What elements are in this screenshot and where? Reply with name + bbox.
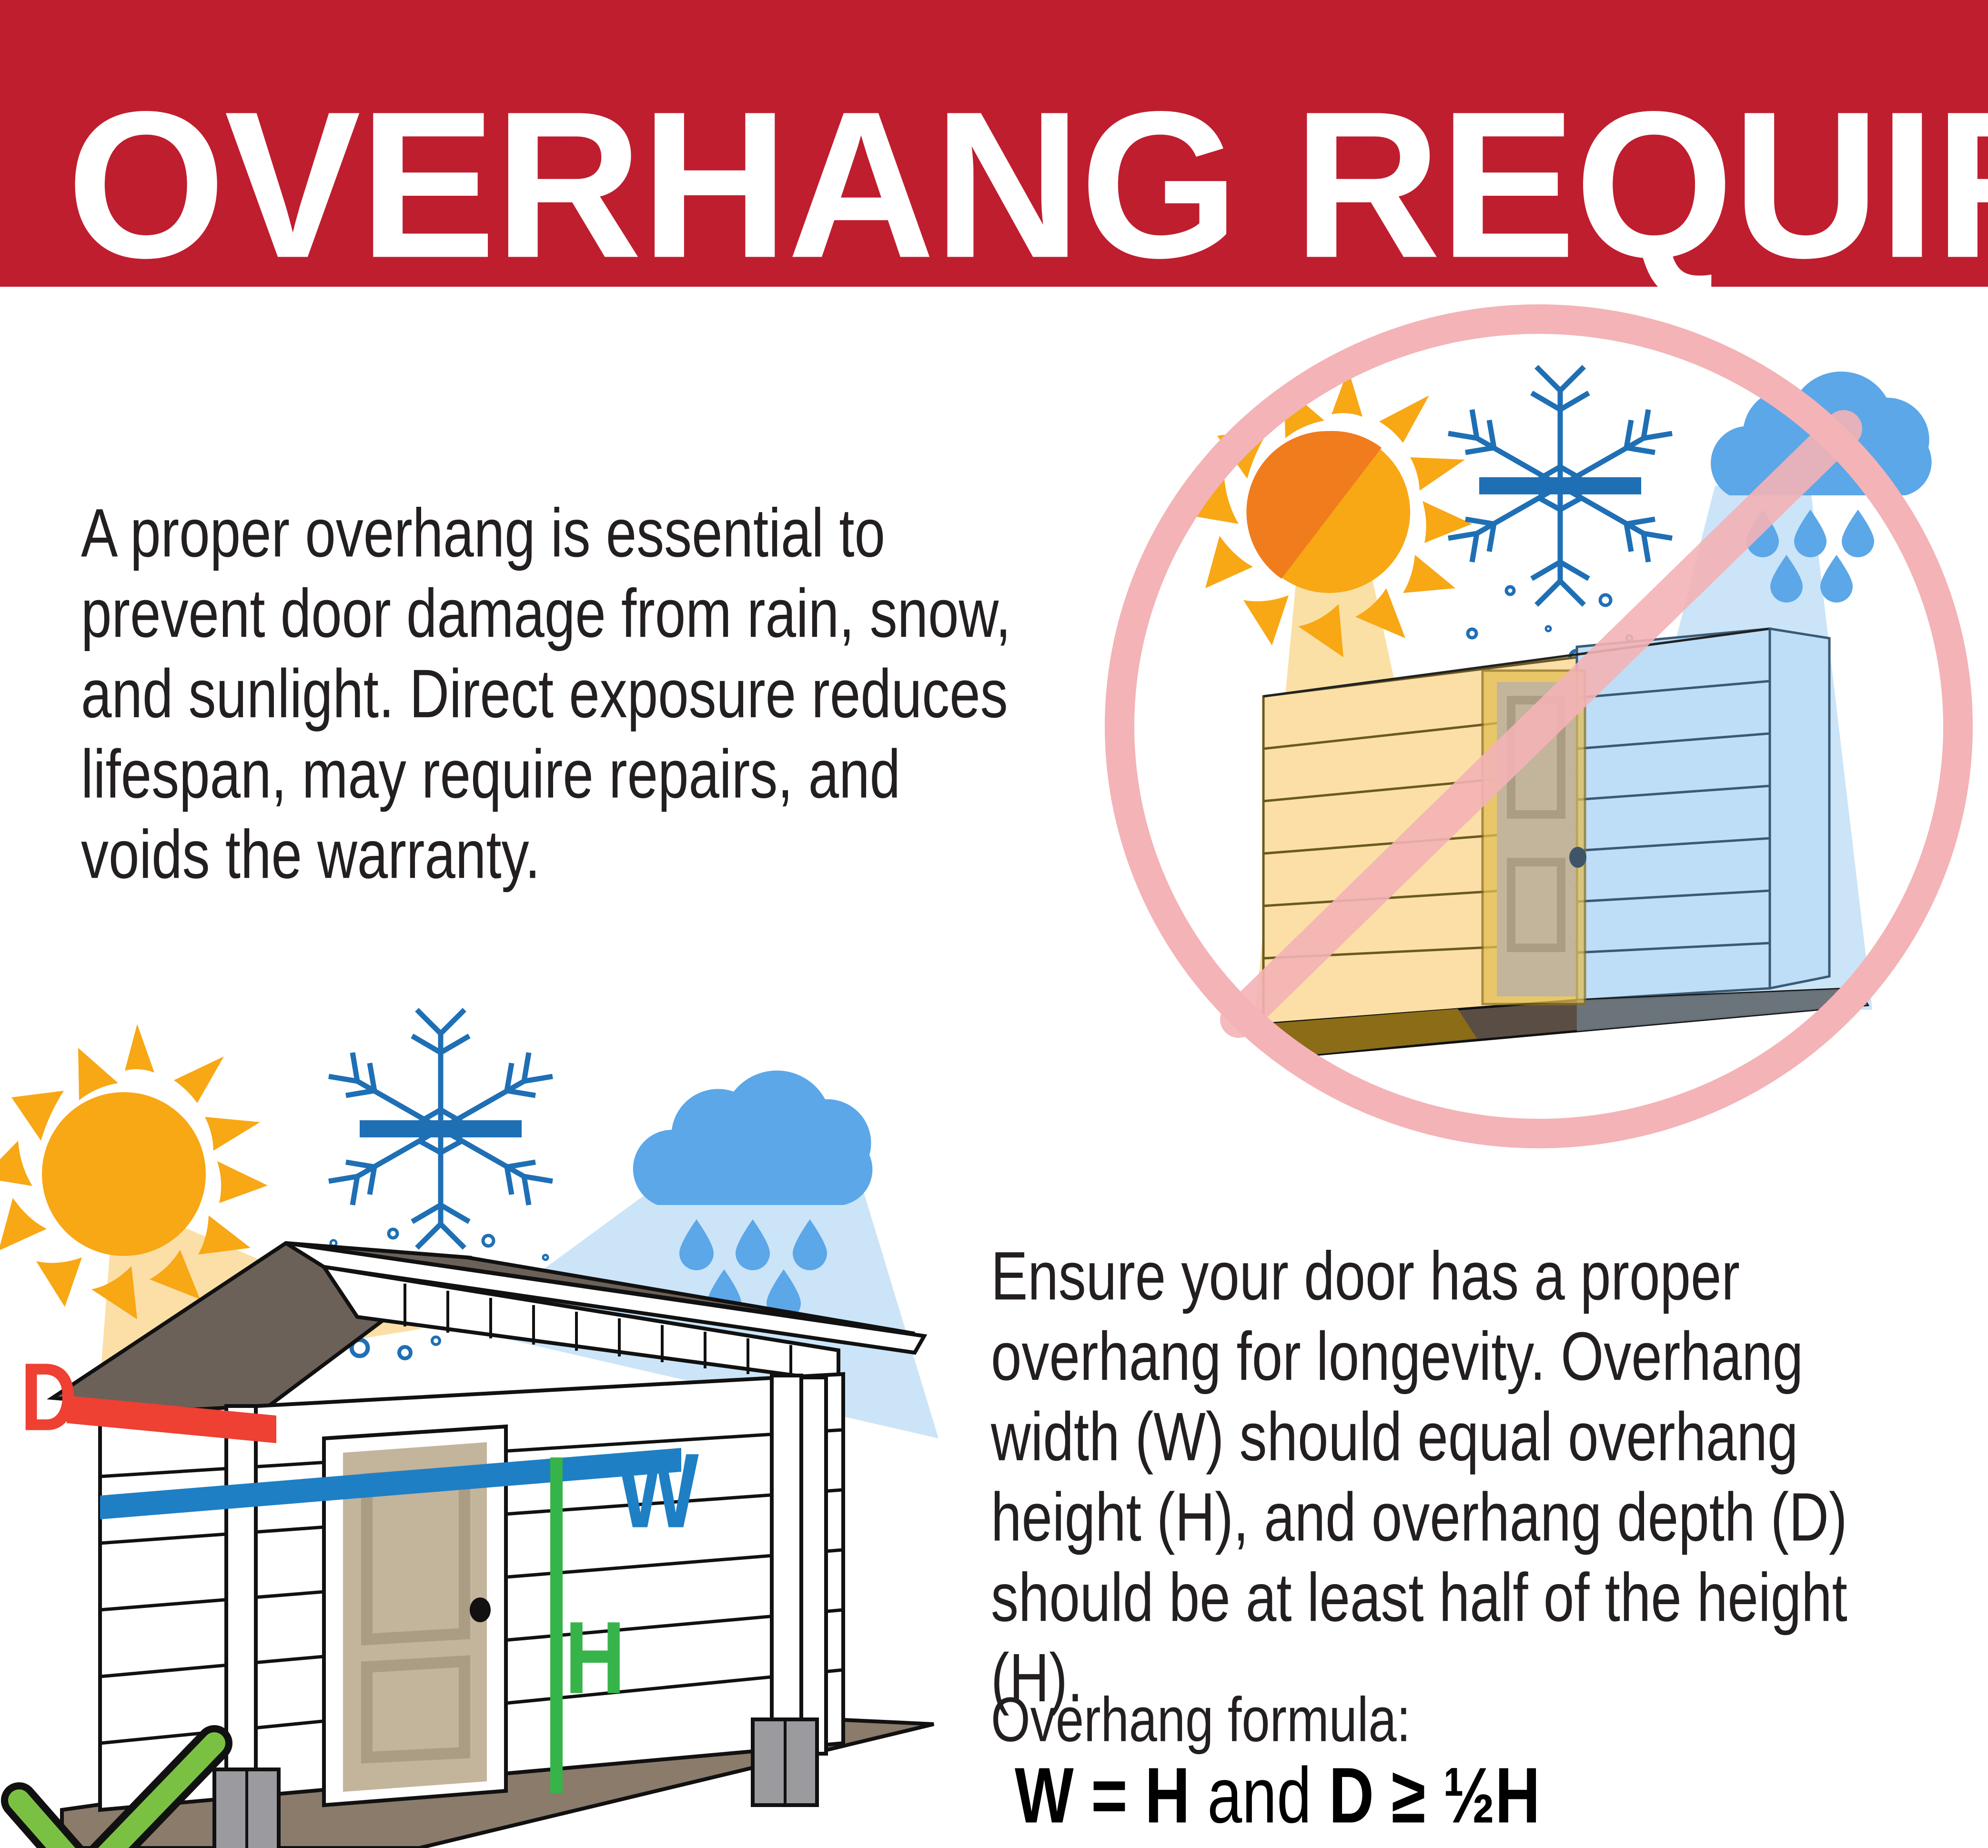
- post-right-inner: [801, 1377, 826, 1754]
- sun-core: [42, 1092, 206, 1256]
- width-label: W: [617, 1432, 699, 1550]
- formula-label: Overhang formula:: [991, 1686, 1411, 1754]
- formula-lhs: W = H: [1015, 1752, 1190, 1840]
- door-knob: [470, 1597, 491, 1622]
- height-marker-line: [550, 1457, 563, 1793]
- formula-expression: W = H and D ≥ ½H: [1015, 1753, 1540, 1838]
- post-right: [772, 1376, 801, 1752]
- shed-structure: D W H: [19, 1243, 934, 1848]
- snowflake-icon: [329, 1010, 553, 1248]
- door-without-overhang-illustration: [1096, 295, 1982, 1181]
- shed-with-overhang-illustration: D W H: [0, 1019, 986, 1848]
- sun-icon: [1189, 369, 1472, 657]
- snowflake-icon: [1448, 367, 1672, 605]
- depth-label: D: [20, 1344, 77, 1451]
- height-label: H: [565, 1600, 626, 1715]
- formula-conjunction: and: [1207, 1752, 1312, 1840]
- formula-rhs: D ≥ ½H: [1329, 1752, 1540, 1840]
- header-banner: OVERHANG REQUIRED!!: [0, 0, 1988, 287]
- cloud-shape: [633, 1071, 873, 1205]
- spec-paragraph: Ensure your door has a proper overhang f…: [991, 1236, 1914, 1718]
- interior-wall: [1770, 629, 1829, 988]
- door-knob: [1569, 847, 1586, 868]
- intro-paragraph: A proper overhang is essential to preven…: [81, 493, 1013, 895]
